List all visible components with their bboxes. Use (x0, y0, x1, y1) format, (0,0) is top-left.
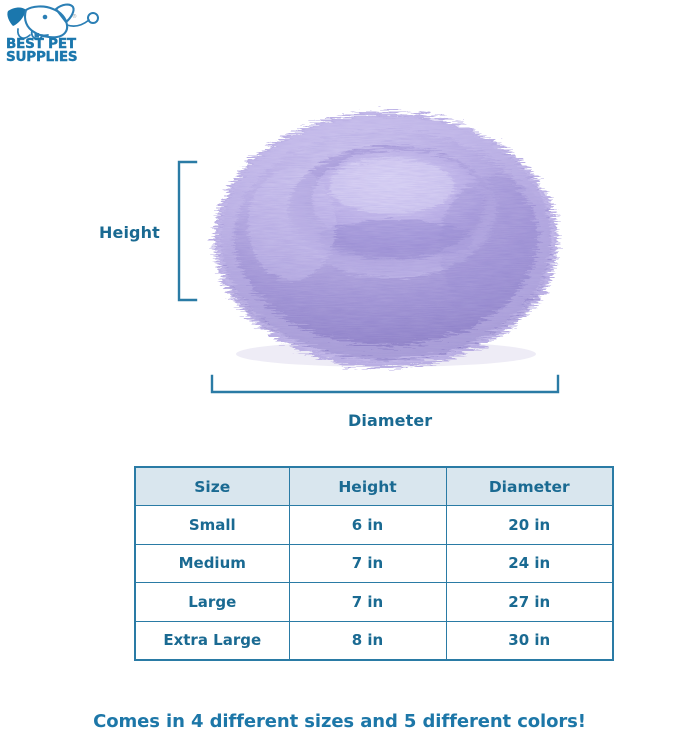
table-row: Small 6 in 20 in (135, 506, 613, 545)
cell-height: 8 in (289, 621, 446, 660)
column-header-height: Height (289, 467, 446, 506)
cell-height: 6 in (289, 506, 446, 545)
column-header-size: Size (135, 467, 289, 506)
height-dimension-label: Height (99, 223, 160, 242)
cell-diameter: 30 in (446, 621, 613, 660)
column-header-diameter: Diameter (446, 467, 613, 506)
svg-text:®: ® (72, 13, 77, 20)
table-header-row: Size Height Diameter (135, 467, 613, 506)
cell-size: Small (135, 506, 289, 545)
cell-diameter: 20 in (446, 506, 613, 545)
footer-tagline: Comes in 4 different sizes and 5 differe… (0, 711, 679, 732)
cell-diameter: 24 in (446, 544, 613, 583)
table-row: Extra Large 8 in 30 in (135, 621, 613, 660)
cell-height: 7 in (289, 544, 446, 583)
table-row: Medium 7 in 24 in (135, 544, 613, 583)
size-chart: Size Height Diameter Small 6 in 20 in Me… (134, 466, 612, 655)
diameter-dimension-label: Diameter (348, 411, 432, 430)
cell-size: Medium (135, 544, 289, 583)
table-row: Large 7 in 27 in (135, 583, 613, 622)
cell-height: 7 in (289, 583, 446, 622)
brand-logo: ® BEST PET SUPPLIES (4, 2, 112, 74)
brand-wordmark-line-2: SUPPLIES (6, 51, 110, 64)
size-table-header: Size Height Diameter (135, 467, 613, 506)
cell-size: Large (135, 583, 289, 622)
cell-size: Extra Large (135, 621, 289, 660)
size-table-body: Small 6 in 20 in Medium 7 in 24 in Large… (135, 506, 613, 661)
product-image-pet-bed (196, 72, 576, 372)
size-table: Size Height Diameter Small 6 in 20 in Me… (134, 466, 614, 661)
height-dimension-bracket (176, 160, 198, 302)
brand-wordmark: BEST PET SUPPLIES (6, 38, 110, 63)
diameter-dimension-bracket (210, 374, 560, 396)
cell-diameter: 27 in (446, 583, 613, 622)
